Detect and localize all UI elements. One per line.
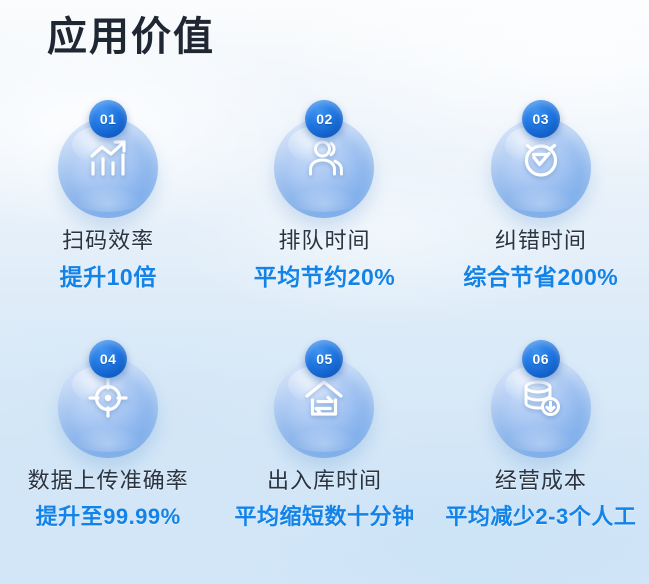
orb-container: 01 (56, 100, 160, 216)
card-label: 数据上传准确率 (28, 466, 189, 496)
value-card-01[interactable]: 01 扫码效率 提升10倍 (0, 100, 216, 340)
page-title: 应用价值 (47, 12, 215, 62)
card-value: 平均缩短数十分钟 (234, 502, 414, 532)
card-number-badge: 02 (305, 100, 343, 138)
orb-container: 06 (489, 340, 593, 456)
orb-container: 02 (272, 100, 376, 216)
value-card-04[interactable]: 04 数据上传准确率 提升至99.99% (0, 340, 216, 580)
orb-container: 03 (489, 100, 593, 216)
value-card-02[interactable]: 02 排队时间 平均节约20% (216, 100, 432, 340)
alarm-clock-check-icon (515, 132, 567, 184)
crosshair-target-icon (82, 372, 134, 424)
card-value: 提升10倍 (60, 262, 157, 293)
value-card-03[interactable]: 03 纠错时间 综合节省200% (433, 100, 649, 340)
card-label: 纠错时间 (495, 226, 587, 256)
orb-container: 05 (272, 340, 376, 456)
card-number-badge: 03 (522, 100, 560, 138)
warehouse-inout-icon (298, 372, 350, 424)
card-label: 经营成本 (495, 466, 587, 496)
card-label: 出入库时间 (267, 466, 382, 496)
orb-container: 04 (56, 340, 160, 456)
card-value: 平均节约20% (254, 262, 396, 293)
card-value: 提升至99.99% (36, 502, 181, 532)
people-group-icon (298, 132, 350, 184)
card-number-badge: 04 (89, 340, 127, 378)
value-card-06[interactable]: 06 经营成本 平均减少2-3个人工 (433, 340, 649, 580)
value-card-05[interactable]: 05 出入库时间 平均缩短数十分钟 (216, 340, 432, 580)
card-label: 排队时间 (278, 226, 370, 256)
bar-chart-growth-icon (82, 132, 134, 184)
database-download-icon (515, 372, 567, 424)
card-value: 平均减少2-3个人工 (445, 502, 636, 532)
card-number-badge: 06 (522, 340, 560, 378)
card-number-badge: 05 (305, 340, 343, 378)
card-number-badge: 01 (89, 100, 127, 138)
application-value-infographic: 应用价值 01 扫码效率 提升10倍 (0, 0, 649, 584)
card-value: 综合节省200% (463, 262, 618, 293)
value-card-grid: 01 扫码效率 提升10倍 02 (0, 100, 649, 580)
card-label: 扫码效率 (62, 226, 154, 256)
